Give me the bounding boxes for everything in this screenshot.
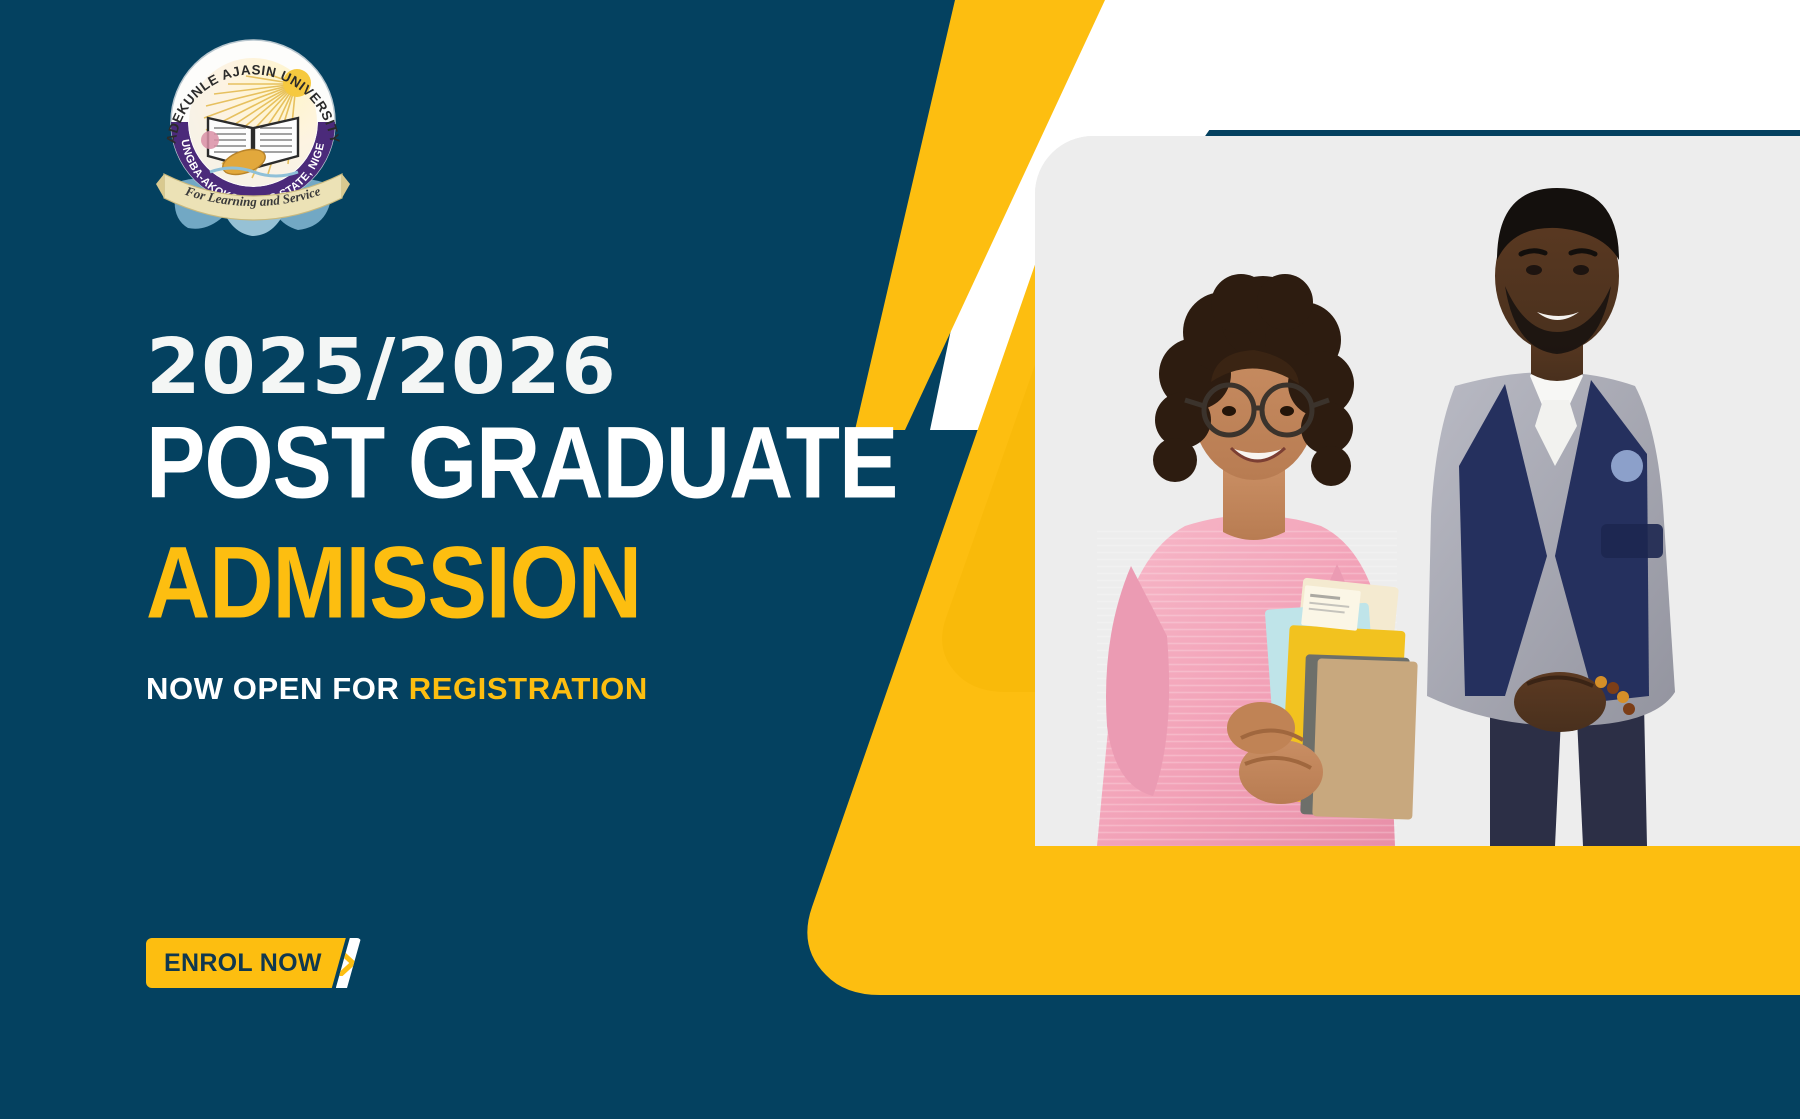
logo-rosette [201, 131, 219, 149]
enrol-now-label: ENROL NOW [164, 949, 322, 978]
admission-banner: ADEKUNLE AJASIN UNIVERSITY AKUNGBA-AKOKO… [0, 0, 1800, 1119]
headline-block: 2025/2026 POST GRADUATE ADMISSION NOW OP… [146, 330, 966, 707]
headline-line-2: ADMISSION [146, 531, 1015, 636]
enrol-now-button[interactable]: ENROL NOW [146, 938, 361, 988]
students-photo [1035, 136, 1800, 846]
session-year: 2025/2026 [146, 330, 982, 405]
subheadline-white: NOW OPEN FOR [146, 671, 399, 706]
enrol-now-button-body[interactable]: ENROL NOW [146, 938, 346, 988]
headline-line-1: POST GRADUATE [146, 411, 1015, 516]
university-logo: ADEKUNLE AJASIN UNIVERSITY AKUNGBA-AKOKO… [148, 22, 358, 237]
subheadline: NOW OPEN FOR REGISTRATION [146, 671, 966, 707]
student-photo-panel [1035, 136, 1800, 846]
subheadline-accent: REGISTRATION [409, 671, 648, 706]
